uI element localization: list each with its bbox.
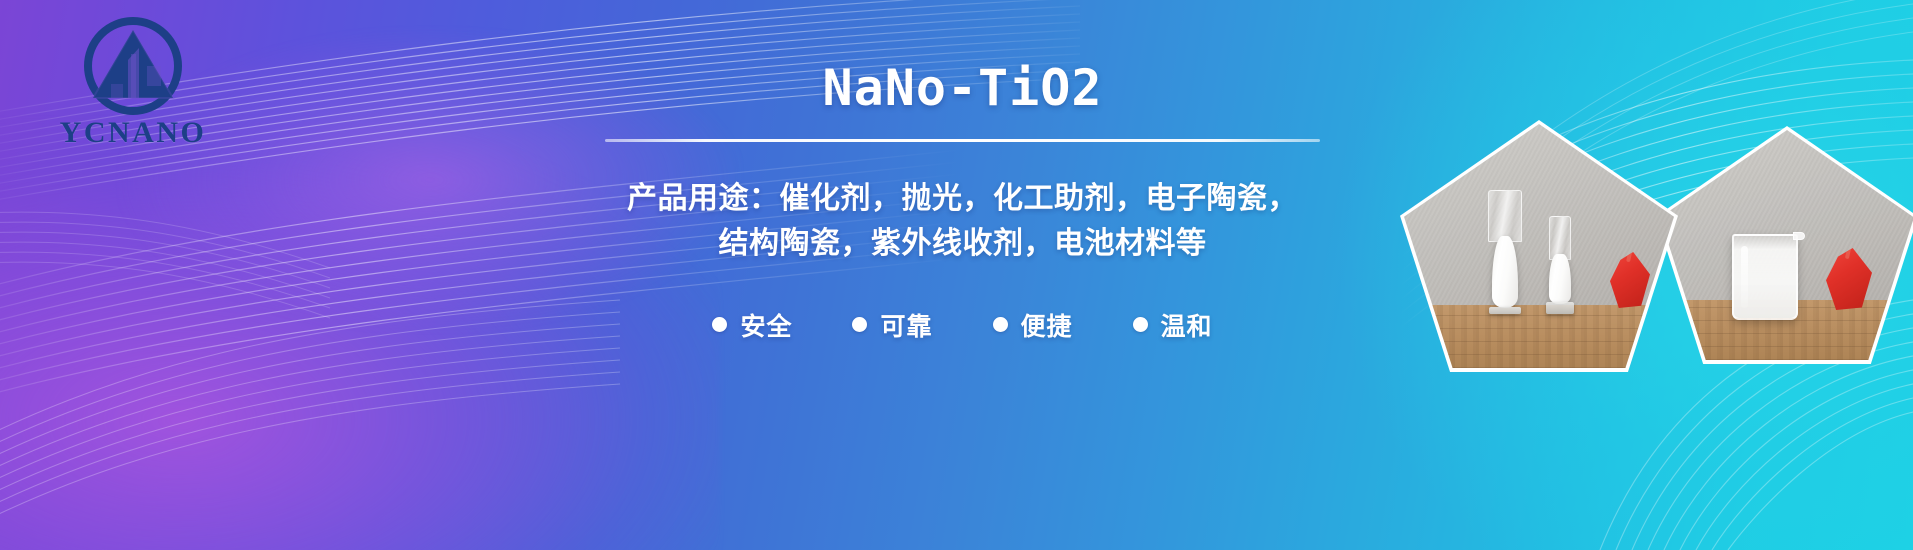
feature-label: 可靠 <box>880 307 932 343</box>
product-description: 产品用途：催化剂，抛光，化工助剂，电子陶瓷， 结构陶瓷，紫外线收剂，电池材料等 <box>480 176 1445 267</box>
tall-white-vase <box>1480 190 1530 314</box>
feature-item-reliable: 可靠 <box>852 307 932 343</box>
description-line-1: 产品用途：催化剂，抛光，化工助剂，电子陶瓷， <box>480 176 1445 222</box>
description-line-2: 结构陶瓷，紫外线收剂，电池材料等 <box>480 221 1445 267</box>
glass-beaker <box>1732 234 1798 320</box>
short-white-vase <box>1538 216 1582 314</box>
dot-icon <box>993 317 1008 332</box>
feature-item-safe: 安全 <box>712 307 792 343</box>
dot-icon <box>712 317 727 332</box>
logo-wordmark: YCNANO <box>40 116 226 150</box>
company-logo[interactable]: YCNANO <box>40 14 226 164</box>
feature-label: 安全 <box>740 307 792 343</box>
product-banner: YCNANO NaNo-TiO2 产品用途：催化剂，抛光，化工助剂，电子陶瓷， … <box>0 0 1913 550</box>
triangle-in-circle-icon <box>81 14 185 118</box>
feature-item-convenient: 便捷 <box>993 307 1073 343</box>
title-divider <box>605 139 1320 142</box>
feature-item-mild: 温和 <box>1133 307 1213 343</box>
dot-icon <box>1133 317 1148 332</box>
dot-icon <box>852 317 867 332</box>
feature-label: 温和 <box>1161 307 1213 343</box>
banner-copy: NaNo-TiO2 产品用途：催化剂，抛光，化工助剂，电子陶瓷， 结构陶瓷，紫外… <box>480 62 1445 343</box>
feature-label: 便捷 <box>1021 307 1073 343</box>
feature-list: 安全 可靠 便捷 温和 <box>480 307 1445 343</box>
page-title: NaNo-TiO2 <box>480 62 1445 115</box>
